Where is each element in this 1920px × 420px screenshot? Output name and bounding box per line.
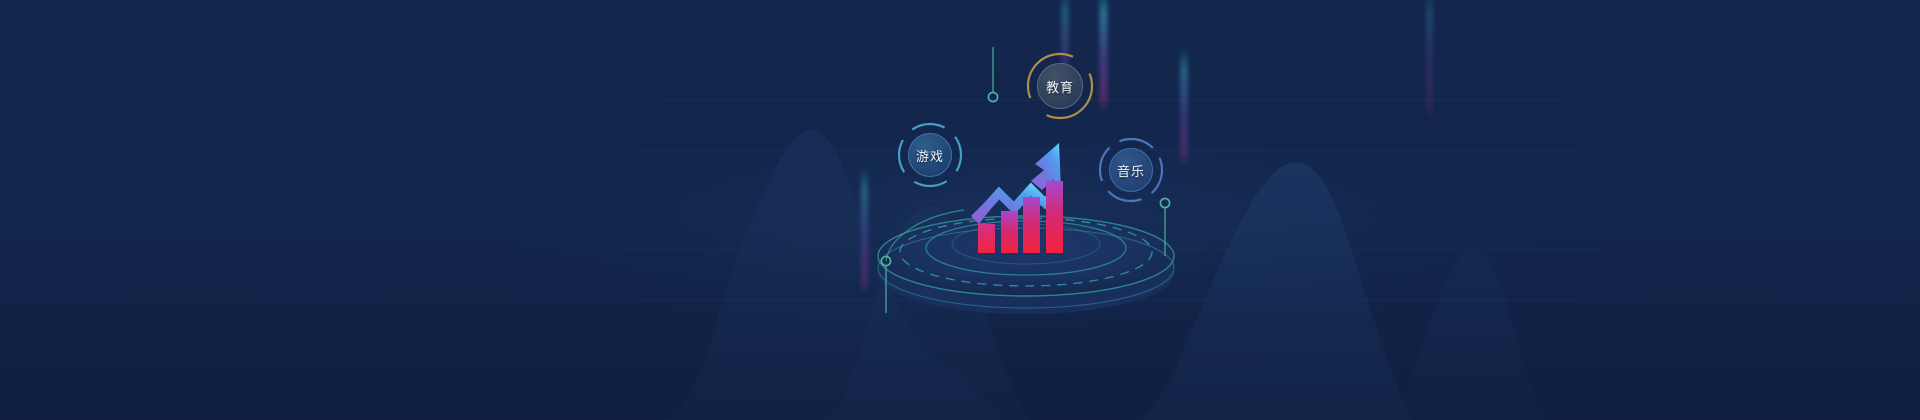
badge-game-core[interactable]: 游戏	[908, 133, 952, 177]
badge-music-label: 音乐	[1117, 161, 1145, 180]
badge-education-label: 教育	[1046, 77, 1074, 96]
badge-ring-layer	[0, 0, 1920, 420]
badge-music-core[interactable]: 音乐	[1109, 148, 1153, 192]
badge-game-label: 游戏	[916, 146, 944, 165]
badge-education-core[interactable]: 教育	[1037, 63, 1083, 109]
growth-banner: 游戏 教育 音乐	[0, 0, 1920, 420]
